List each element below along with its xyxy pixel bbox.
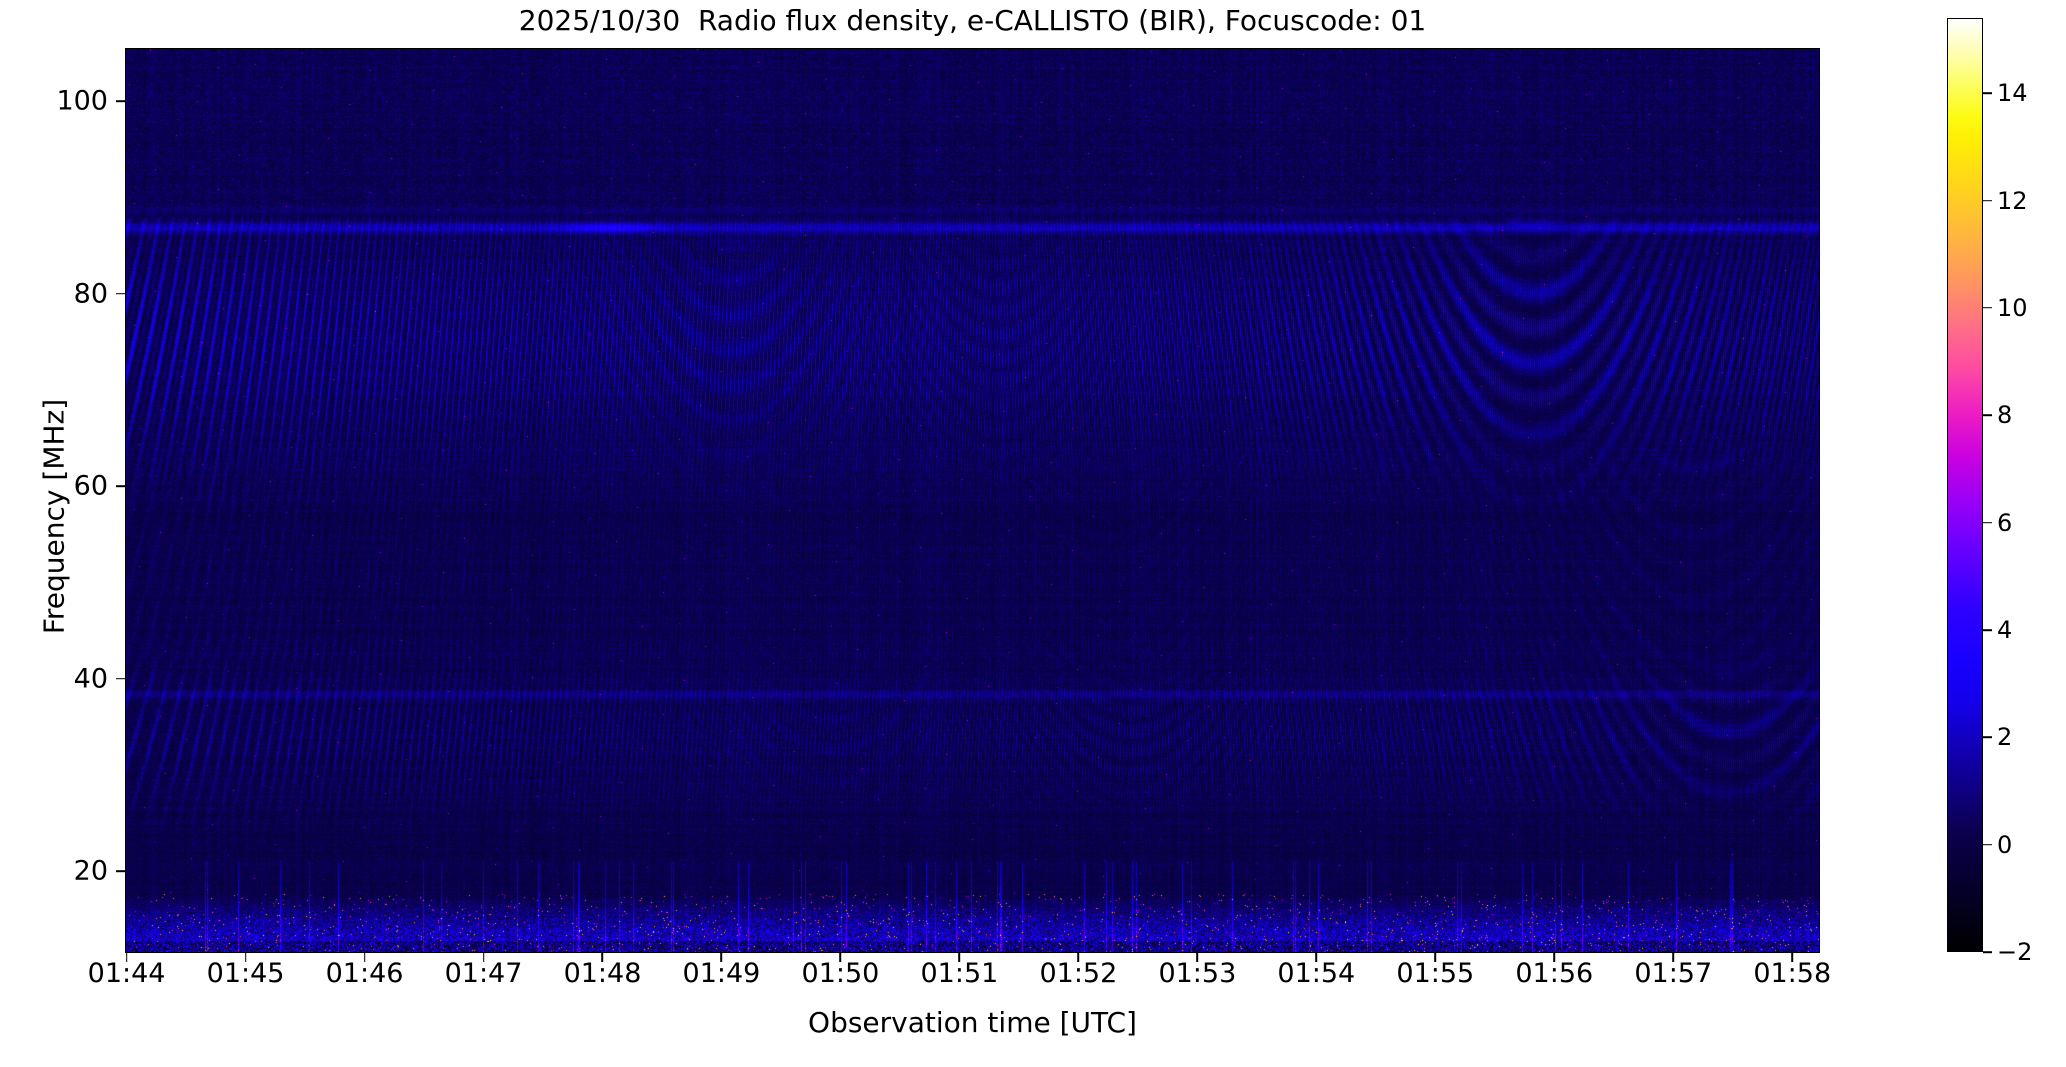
x-tick-mark [1316, 953, 1318, 962]
x-tick-mark [721, 953, 723, 962]
y-tick-label: 100 [18, 85, 108, 116]
colorbar-tick-label: 10 [1997, 294, 2028, 322]
x-tick-mark [1553, 953, 1555, 962]
y-tick-mark [116, 293, 125, 295]
x-tick-mark [1435, 953, 1437, 962]
x-tick-label: 01:55 [1396, 958, 1474, 989]
y-tick-label: 60 [18, 471, 108, 502]
colorbar-tick-mark [1983, 307, 1992, 309]
x-tick-mark [126, 953, 128, 962]
colorbar-tick-label: 0 [1997, 831, 2012, 859]
colorbar-tick-mark [1983, 629, 1992, 631]
x-axis-label: Observation time [UTC] [125, 1006, 1820, 1039]
x-tick-mark [1791, 953, 1793, 962]
y-tick-mark [116, 485, 125, 487]
x-tick-mark [1078, 953, 1080, 962]
x-tick-label: 01:46 [326, 958, 404, 989]
x-tick-label: 01:54 [1277, 958, 1355, 989]
x-tick-mark [245, 953, 247, 962]
colorbar-gradient [1947, 18, 1983, 952]
x-tick-label: 01:56 [1515, 958, 1593, 989]
colorbar-tick-mark [1983, 92, 1992, 94]
colorbar-tick-mark [1983, 951, 1992, 953]
colorbar-tick-label: 14 [1997, 79, 2028, 107]
y-tick-label: 20 [18, 856, 108, 887]
colorbar-tick-label: 8 [1997, 401, 2012, 429]
y-tick-mark [116, 678, 125, 680]
x-tick-label: 01:44 [88, 958, 166, 989]
x-tick-mark [1672, 953, 1674, 962]
x-tick-label: 01:58 [1753, 958, 1831, 989]
x-tick-label: 01:47 [445, 958, 523, 989]
colorbar-tick-label: −2 [1997, 938, 2032, 966]
x-tick-mark [364, 953, 366, 962]
page-title: 2025/10/30 Radio flux density, e-CALLIST… [125, 4, 1820, 37]
x-tick-label: 01:57 [1634, 958, 1712, 989]
x-tick-label: 01:51 [921, 958, 999, 989]
x-tick-mark [959, 953, 961, 962]
x-tick-label: 01:52 [1039, 958, 1117, 989]
spectrogram-figure: 2025/10/30 Radio flux density, e-CALLIST… [0, 0, 2066, 1067]
colorbar-tick-label: 12 [1997, 187, 2028, 215]
x-tick-label: 01:50 [802, 958, 880, 989]
colorbar-tick-mark [1983, 736, 1992, 738]
x-tick-label: 01:53 [1158, 958, 1236, 989]
x-tick-mark [602, 953, 604, 962]
spectrogram-plot-area [125, 48, 1820, 953]
x-tick-mark [483, 953, 485, 962]
colorbar-tick-label: 2 [1997, 723, 2012, 751]
x-tick-label: 01:49 [683, 958, 761, 989]
colorbar-tick-mark [1983, 414, 1992, 416]
x-tick-label: 01:48 [564, 958, 642, 989]
y-tick-label: 40 [18, 663, 108, 694]
spectrogram-image [126, 49, 1819, 952]
x-tick-mark [1197, 953, 1199, 962]
x-tick-label: 01:45 [207, 958, 285, 989]
colorbar-tick-mark [1983, 844, 1992, 846]
y-tick-label: 80 [18, 278, 108, 309]
y-tick-mark [116, 870, 125, 872]
colorbar-tick-mark [1983, 200, 1992, 202]
colorbar [1947, 18, 1983, 952]
colorbar-tick-label: 6 [1997, 509, 2012, 537]
x-tick-mark [840, 953, 842, 962]
colorbar-tick-mark [1983, 522, 1992, 524]
y-tick-mark [116, 100, 125, 102]
colorbar-tick-label: 4 [1997, 616, 2012, 644]
